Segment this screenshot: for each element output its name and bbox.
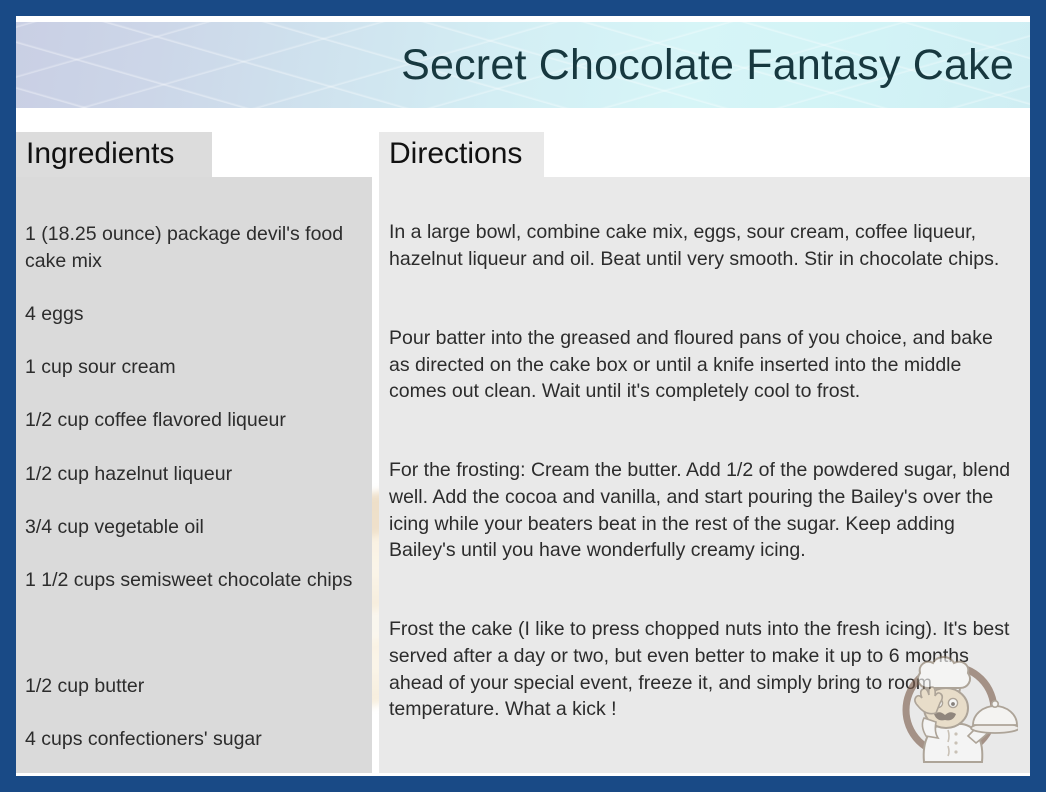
title-banner: Secret Chocolate Fantasy Cake <box>16 22 1030 108</box>
directions-panel: Directions In a large bowl, combine cake… <box>379 132 1030 776</box>
direction-paragraph: Frost the cake (I like to press chopped … <box>389 616 1016 722</box>
recipe-card-inner: Secret Chocolate Fantasy Cake <box>16 16 1030 776</box>
ingredient-item: 1/2 cup butter <box>25 673 362 700</box>
ingredient-item: 4 cups confectioners' sugar <box>25 726 362 753</box>
ingredient-item: 1/2 cup coffee flavored liqueur <box>25 407 362 434</box>
ingredient-item: 4 eggs <box>25 301 362 328</box>
recipe-card: Secret Chocolate Fantasy Cake <box>0 0 1046 792</box>
direction-paragraph: Pour batter into the greased and floured… <box>389 325 1016 405</box>
ingredient-item: 3/4 cup vegetable oil <box>25 514 362 541</box>
ingredients-list: 1 (18.25 ounce) package devil's food cak… <box>16 177 372 773</box>
ingredient-item: 1 1/2 cups semisweet chocolate chips <box>25 567 362 594</box>
directions-heading: Directions <box>379 132 544 177</box>
directions-list: In a large bowl, combine cake mix, eggs,… <box>379 177 1030 773</box>
direction-paragraph: For the frosting: Cream the butter. Add … <box>389 457 1016 563</box>
ingredients-panel: Ingredients 1 (18.25 ounce) package devi… <box>16 132 372 776</box>
ingredient-item: 1/2 cup hazelnut liqueur <box>25 461 362 488</box>
direction-paragraph: In a large bowl, combine cake mix, eggs,… <box>389 219 1016 272</box>
ingredient-item: 1 cup sour cream <box>25 354 362 381</box>
ingredient-item: 1 (18.25 ounce) package devil's food cak… <box>25 221 362 274</box>
page-title: Secret Chocolate Fantasy Cake <box>401 44 1030 87</box>
ingredients-group-separator <box>25 620 362 647</box>
ingredients-heading: Ingredients <box>16 132 212 177</box>
